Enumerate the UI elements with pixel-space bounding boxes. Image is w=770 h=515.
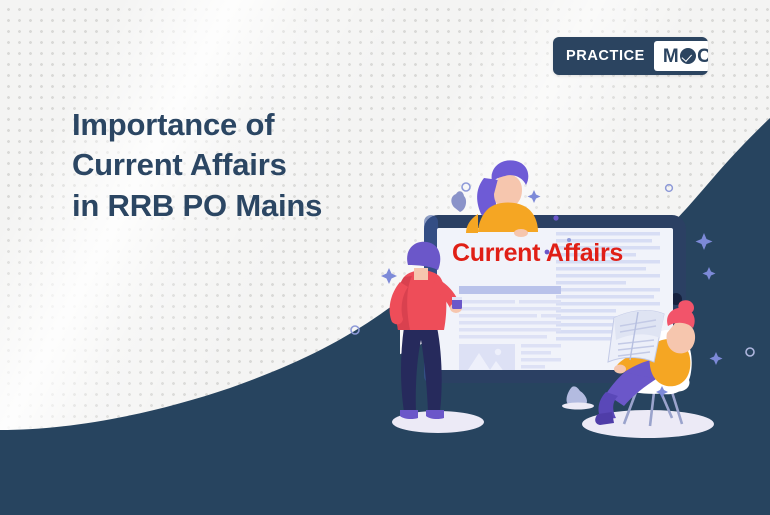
dot-icon (553, 215, 558, 220)
logo-practice-text: PRACTICE (553, 48, 654, 64)
page-title: Importance of Current Affairs in RRB PO … (72, 105, 322, 227)
logo-mock-text: MCK (663, 47, 708, 66)
neck (414, 268, 428, 280)
screen-title: Current Affairs (452, 239, 623, 268)
ring-icon (462, 183, 470, 191)
check-circle-icon (680, 48, 696, 64)
logo-mock-prefix: M (663, 47, 679, 66)
hair (407, 242, 440, 270)
banner: PRACTICE MCK Importance of Current Affai… (0, 0, 770, 515)
navy-wave-shape-left (0, 300, 400, 515)
ring-icon (666, 185, 673, 192)
brand-logo[interactable]: PRACTICE MCK (553, 37, 708, 75)
newspaper (608, 311, 664, 362)
screen-heading-bar (459, 286, 561, 294)
sparkle-icon (528, 190, 541, 203)
bird-icon (451, 191, 466, 212)
hand (614, 365, 626, 374)
sparkle-icon (381, 268, 397, 284)
logo-mock-suffix: CK (697, 47, 708, 66)
illustration-canvas (0, 0, 770, 515)
hand (514, 229, 528, 237)
logo-mock-badge: MCK (654, 41, 708, 71)
image-placeholder-sun-icon (495, 349, 501, 355)
